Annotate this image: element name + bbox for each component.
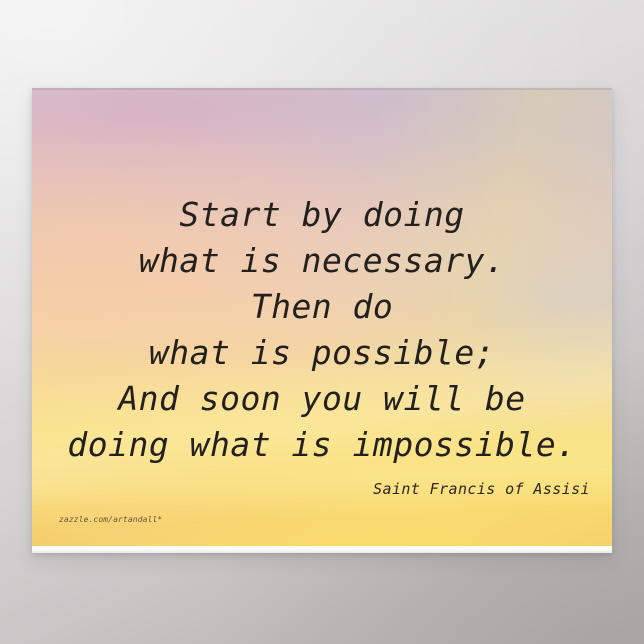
quote-line-2: what is necessary.: [32, 244, 612, 277]
poster-bottom-margin: [32, 546, 612, 553]
scene-backdrop: Start by doing what is necessary. Then d…: [0, 0, 644, 644]
quote-line-6: doing what is impossible.: [32, 428, 612, 461]
quote-line-1: Start by doing: [32, 198, 612, 231]
quote-attribution: Saint Francis of Assisi: [373, 480, 590, 498]
quote-line-3: Then do: [32, 290, 612, 323]
quote-line-5: And soon you will be: [32, 382, 612, 415]
poster-artwork: Start by doing what is necessary. Then d…: [32, 88, 612, 546]
poster: Start by doing what is necessary. Then d…: [32, 88, 612, 553]
watermark-url: zazzle.com/artandall*: [59, 515, 162, 524]
quote-line-4: what is possible;: [32, 336, 612, 369]
quote-text-block: Start by doing what is necessary. Then d…: [32, 88, 612, 546]
